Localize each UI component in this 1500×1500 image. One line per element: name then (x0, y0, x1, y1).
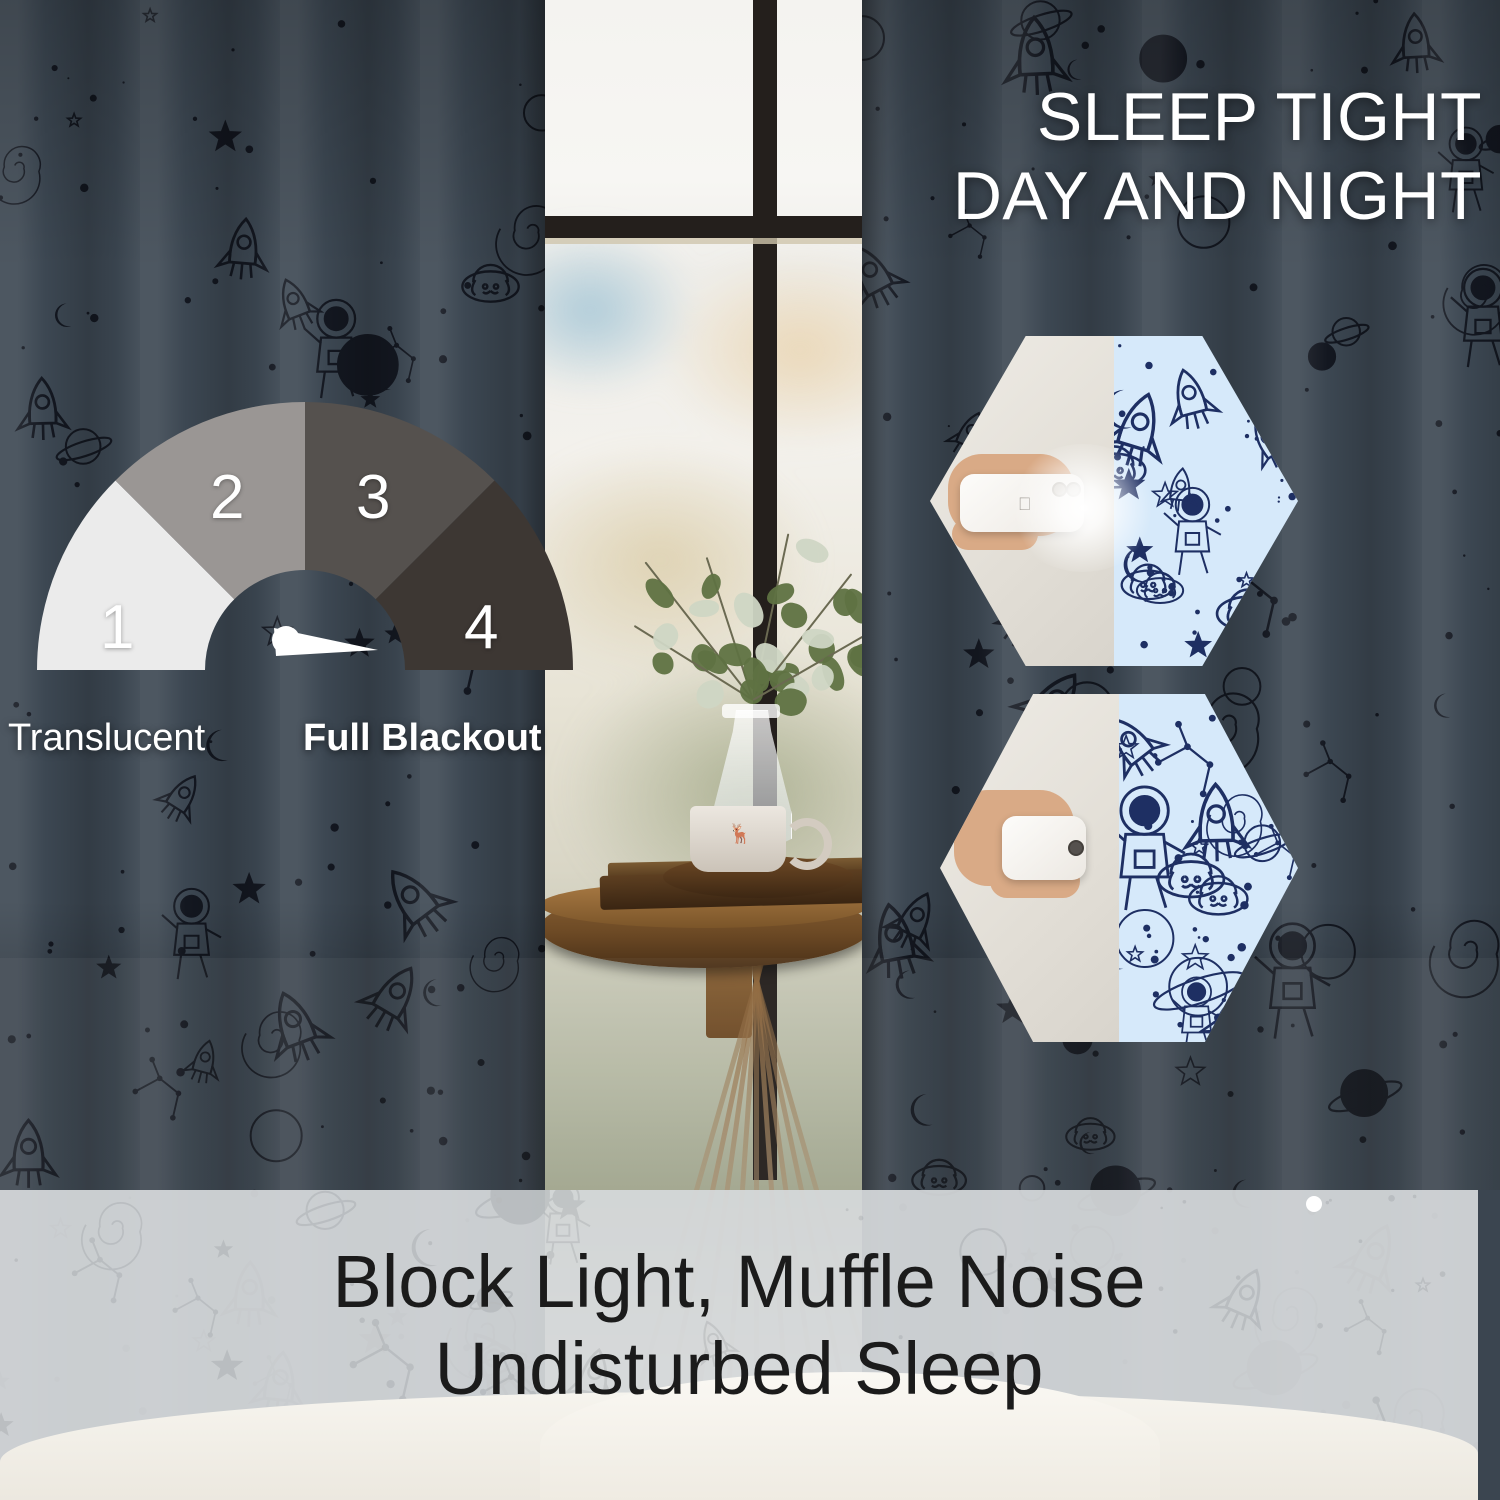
star-speck-icon (1177, 1022, 1183, 1028)
gauge-number-3: 3 (356, 462, 390, 533)
constellation-icon (1155, 721, 1213, 797)
dog-in-saucer-icon (1122, 565, 1175, 600)
star-speck-icon (858, 1216, 863, 1221)
deer-logo-icon: 🦌 (728, 824, 746, 846)
star-speck-icon (1388, 1195, 1395, 1202)
window-mullion-horizontal (500, 216, 920, 238)
star-speck-icon (1145, 362, 1152, 369)
gauge-number-2: 2 (210, 462, 244, 533)
star-speck-icon (1413, 1195, 1417, 1199)
banner-white-dot-icon (1306, 1196, 1322, 1212)
gauge-label-full-blackout: Full Blackout (303, 717, 542, 760)
star-icon (1186, 633, 1209, 655)
star-speck-icon (1168, 590, 1174, 596)
star-speck-icon (1175, 854, 1183, 862)
star-speck-icon (1140, 641, 1148, 649)
star-speck-icon (1195, 610, 1200, 615)
star-speck-icon (1154, 950, 1158, 954)
gauge-label-translucent: Translucent (8, 717, 205, 760)
gauge-number-4: 4 (464, 592, 498, 663)
star-speck-icon (1168, 583, 1176, 591)
planet-ring-icon (294, 1196, 357, 1230)
star-speck-icon (1144, 822, 1152, 830)
star-speck-icon (846, 1208, 849, 1211)
star-speck-icon (1118, 344, 1121, 347)
star-speck-icon (1244, 883, 1252, 891)
star-speck-icon (1191, 820, 1194, 823)
window-sill-highlight (500, 238, 920, 244)
star-speck-icon (1236, 577, 1242, 583)
star-speck-icon (1245, 434, 1249, 438)
plant-leaf (653, 653, 674, 675)
star-speck-icon (1147, 569, 1155, 577)
star-speck-icon (1160, 1207, 1163, 1210)
star-speck-icon (1183, 1200, 1187, 1204)
star-icon (1183, 945, 1208, 969)
mug-handle (782, 818, 832, 870)
star-speck-icon (1198, 936, 1201, 939)
banner-right-strip (1478, 1190, 1500, 1500)
star-speck-icon (1278, 500, 1280, 502)
gauge-number-1: 1 (100, 592, 134, 663)
star-speck-icon (1192, 630, 1196, 634)
star-icon (0, 1414, 11, 1434)
star-speck-icon (1143, 925, 1150, 932)
star-speck-icon (1210, 369, 1217, 376)
star-speck-icon (1278, 496, 1280, 498)
star-speck-icon (1203, 936, 1209, 942)
planet-icon (1119, 910, 1173, 967)
star-speck-icon (1147, 934, 1152, 939)
star-speck-icon (1237, 943, 1246, 952)
star-speck-icon (1240, 901, 1248, 909)
star-speck-icon (1152, 753, 1157, 758)
star-speck-icon (1280, 479, 1283, 482)
star-speck-icon (1326, 1201, 1329, 1204)
rocket-icon (1119, 703, 1174, 787)
star-speck-icon (1193, 927, 1198, 932)
headline-text: SLEEP TIGHT DAY AND NIGHT (953, 78, 1482, 236)
star-speck-icon (1215, 518, 1220, 523)
star-speck-icon (1153, 991, 1159, 997)
star-speck-icon (1119, 410, 1126, 417)
astronaut-icon (1119, 787, 1185, 910)
star-speck-icon (1241, 842, 1248, 849)
hex2-camera-icon (1068, 840, 1084, 856)
hex1-flashlight-glow (1008, 444, 1158, 572)
star-speck-icon (1255, 437, 1259, 441)
star-speck-icon (1138, 820, 1142, 824)
star-speck-icon (1209, 715, 1216, 722)
star-speck-icon (1329, 1199, 1332, 1202)
star-speck-icon (1225, 506, 1231, 512)
star-speck-icon (1173, 514, 1176, 517)
star-speck-icon (1144, 599, 1147, 602)
star-icon (1128, 947, 1143, 961)
star-speck-icon (1151, 956, 1159, 964)
gauge-needle-icon (272, 616, 380, 660)
star-speck-icon (1227, 954, 1234, 961)
star-speck-icon (1247, 420, 1250, 423)
star-speck-icon (1196, 891, 1199, 894)
star-speck-icon (1222, 998, 1226, 1002)
banner-text: Block Light, Muffle Noise Undisturbed Sl… (0, 1238, 1478, 1413)
product-marketing-image: 🦌 SLEEP TIGHT DAY AND NIGHT 1 2 3 4 Tran… (0, 0, 1500, 1500)
star-speck-icon (1142, 446, 1144, 448)
vase-neck (722, 704, 780, 718)
